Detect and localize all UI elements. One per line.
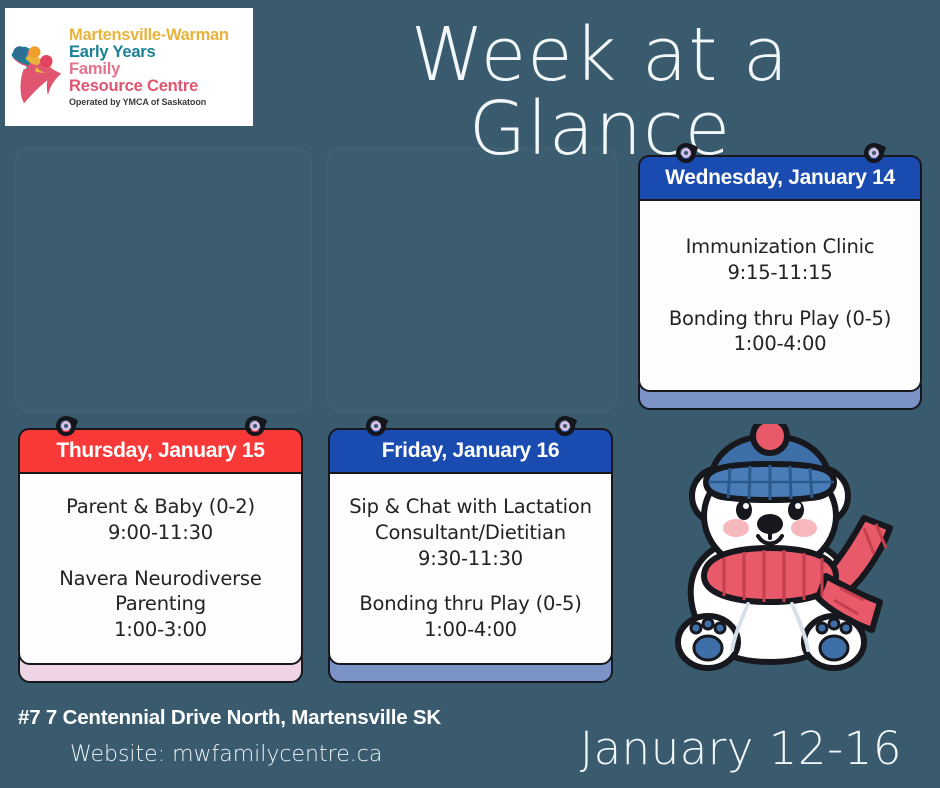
event-name: Bonding thru Play (0-5) bbox=[669, 306, 891, 332]
day-card-thursday[interactable]: Thursday, January 15 Parent & Baby (0-2)… bbox=[18, 428, 303, 683]
logo-line-1: Martensville-Warman bbox=[69, 27, 229, 44]
day-card-title: Wednesday, January 14 bbox=[665, 166, 895, 190]
logo-line-3: Family bbox=[69, 61, 229, 78]
ghost-card-placeholder-2 bbox=[326, 148, 618, 412]
page-title: Week at a Glance bbox=[280, 18, 920, 166]
logo-line-5: Operated by YMCA of Saskatoon bbox=[69, 98, 229, 107]
ghost-card-placeholder-1 bbox=[14, 148, 312, 412]
address-line: #7 7 Centennial Drive North, Martensvill… bbox=[18, 706, 441, 730]
spiral-ring-icon bbox=[864, 143, 884, 163]
event-name: Parent & Baby (0-2) bbox=[66, 494, 255, 520]
event-time: 9:30-11:30 bbox=[340, 546, 601, 572]
day-card-friday[interactable]: Friday, January 16 Sip & Chat with Lacta… bbox=[328, 428, 613, 683]
event-time: 1:00-4:00 bbox=[359, 617, 581, 643]
spiral-ring-icon bbox=[676, 143, 696, 163]
event-entry: Sip & Chat with Lactation Consultant/Die… bbox=[340, 494, 601, 572]
polar-bear-icon bbox=[658, 424, 914, 686]
event-time: 1:00-3:00 bbox=[30, 617, 291, 643]
event-time: 9:15-11:15 bbox=[686, 260, 875, 286]
day-card-body-friday: Sip & Chat with Lactation Consultant/Die… bbox=[328, 472, 613, 665]
day-card-body-wednesday: Immunization Clinic 9:15-11:15 Bonding t… bbox=[638, 199, 922, 392]
event-name: Sip & Chat with Lactation Consultant/Die… bbox=[340, 494, 601, 546]
website-line[interactable]: Website: mwfamilycentre.ca bbox=[70, 742, 382, 767]
day-card-wednesday[interactable]: Wednesday, January 14 Immunization Clini… bbox=[638, 155, 922, 410]
event-time: 9:00-11:30 bbox=[66, 520, 255, 546]
event-name: Navera Neurodiverse Parenting bbox=[30, 566, 291, 618]
logo-figures-icon bbox=[9, 26, 67, 108]
event-entry: Bonding thru Play (0-5) 1:00-4:00 bbox=[669, 306, 891, 358]
event-time: 1:00-4:00 bbox=[669, 331, 891, 357]
poster-canvas: Martensville-Warman Early Years Family R… bbox=[0, 0, 940, 788]
day-card-title: Friday, January 16 bbox=[382, 439, 559, 463]
organization-logo: Martensville-Warman Early Years Family R… bbox=[5, 8, 253, 126]
spiral-ring-icon bbox=[245, 416, 265, 436]
event-name: Immunization Clinic bbox=[686, 234, 875, 260]
event-entry: Navera Neurodiverse Parenting 1:00-3:00 bbox=[30, 566, 291, 644]
logo-line-2: Early Years bbox=[69, 44, 229, 61]
event-entry: Parent & Baby (0-2) 9:00-11:30 bbox=[66, 494, 255, 546]
logo-line-4: Resource Centre bbox=[69, 78, 229, 95]
day-card-title: Thursday, January 15 bbox=[56, 439, 264, 463]
event-name: Bonding thru Play (0-5) bbox=[359, 591, 581, 617]
date-range-label: January 12-16 bbox=[580, 722, 902, 775]
event-entry: Immunization Clinic 9:15-11:15 bbox=[686, 234, 875, 286]
spiral-ring-icon bbox=[56, 416, 76, 436]
spiral-ring-icon bbox=[366, 416, 386, 436]
spiral-ring-icon bbox=[555, 416, 575, 436]
day-card-body-thursday: Parent & Baby (0-2) 9:00-11:30 Navera Ne… bbox=[18, 472, 303, 665]
event-entry: Bonding thru Play (0-5) 1:00-4:00 bbox=[359, 591, 581, 643]
